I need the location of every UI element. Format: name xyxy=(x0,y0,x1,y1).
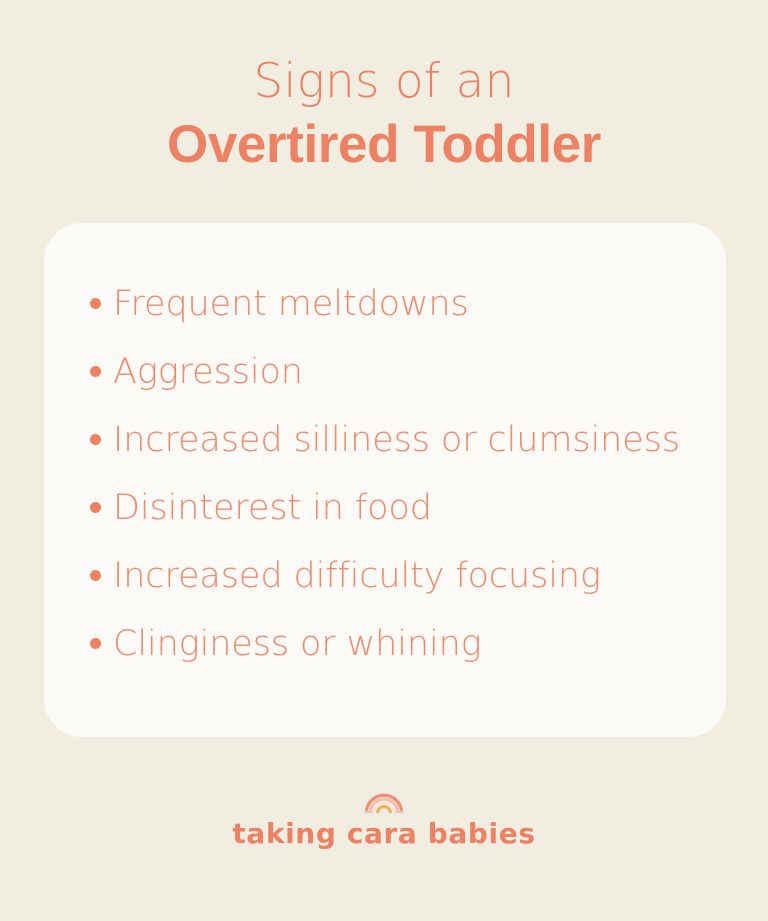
rainbow-icon xyxy=(363,786,405,814)
list-item-label: Frequent meltdowns xyxy=(113,286,702,322)
title-line-emphasis: Overtired Toddler xyxy=(0,112,768,178)
list-item-label: Increased silliness or clumsiness xyxy=(113,422,702,458)
list-item: Frequent meltdowns xyxy=(90,286,702,354)
list-item-label: Aggression xyxy=(113,354,702,390)
list-item: Disinterest in food xyxy=(90,490,702,558)
brand-wordmark: taking cara babies xyxy=(0,817,768,851)
bullet-dot-icon xyxy=(90,366,101,377)
bullet-dot-icon xyxy=(90,298,101,309)
bullet-dot-icon xyxy=(90,434,101,445)
bullet-dot-icon xyxy=(90,638,101,649)
list-item-label: Disinterest in food xyxy=(113,490,702,526)
list-item-label: Clinginess or whining xyxy=(113,626,702,662)
list-item: Increased silliness or clumsiness xyxy=(90,422,702,490)
list-item: Clinginess or whining xyxy=(90,626,702,694)
title-line-primary: Signs of an xyxy=(0,52,768,112)
page-title: Signs of an Overtired Toddler xyxy=(0,52,768,178)
list-item: Increased difficulty focusing xyxy=(90,558,702,626)
bullet-dot-icon xyxy=(90,570,101,581)
bullet-dot-icon xyxy=(90,502,101,513)
list-item-label: Increased difficulty focusing xyxy=(113,558,702,594)
signs-card: Frequent meltdowns Aggression Increased … xyxy=(44,223,726,737)
list-item: Aggression xyxy=(90,354,702,422)
poster-canvas: Signs of an Overtired Toddler Frequent m… xyxy=(0,0,768,921)
signs-list: Frequent meltdowns Aggression Increased … xyxy=(90,286,702,694)
brand-footer: taking cara babies xyxy=(0,786,768,851)
